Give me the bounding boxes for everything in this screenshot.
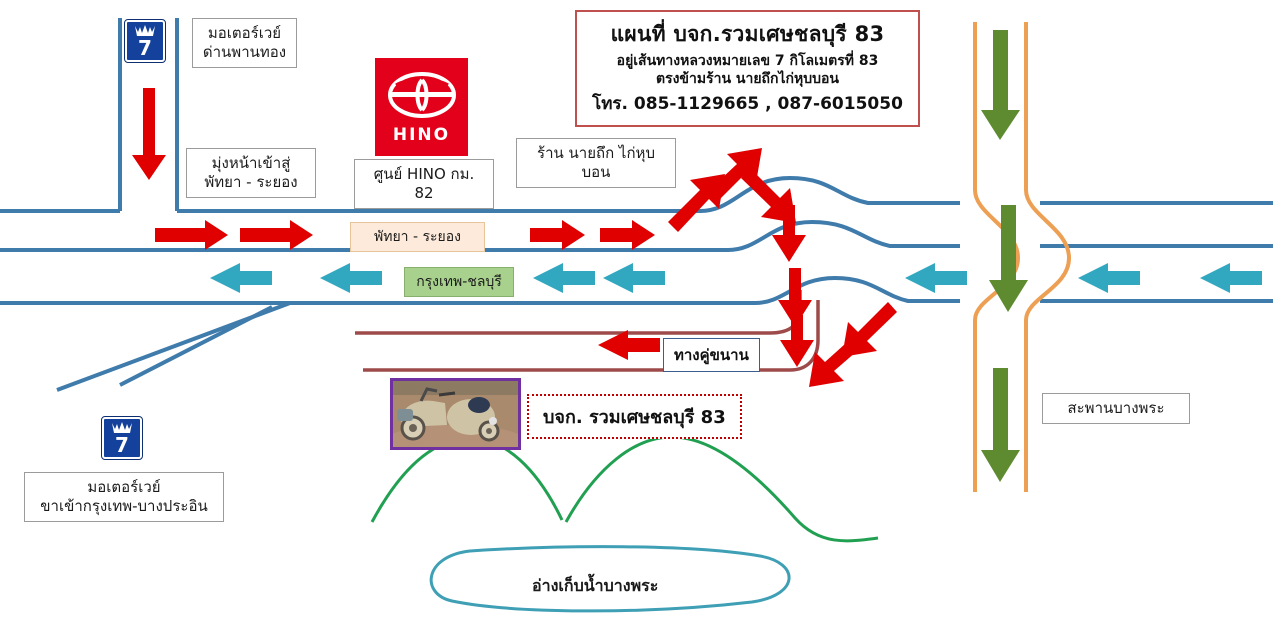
cyan-arrow-left-7 xyxy=(1200,263,1262,293)
red-arrow-right-3 xyxy=(530,220,585,250)
route-chip-pattaya-rayong: พัทยา - ระยอง xyxy=(350,222,485,252)
highway-shield-bottom: 7 xyxy=(102,417,142,459)
ramp-diagonal-lower xyxy=(120,307,272,385)
green-arrow-down-top xyxy=(981,30,1020,140)
title-line-3: ตรงข้ามร้าน นายถึกไก่หุบบอน xyxy=(591,70,904,88)
shield-number: 7 xyxy=(138,38,152,58)
route-chip-bangkok-chonburi: กรุงเทพ-ชลบุรี xyxy=(404,267,514,297)
title-line-2: อยู่เส้นทางหลวงหมายเลข 7 กิโลเมตรที่ 83 xyxy=(591,52,904,70)
map-title-box: แผนที่ บจก.รวมเศษชลบุรี 83 อยู่เส้นทางหล… xyxy=(575,10,920,127)
label-hino-center-km82: ศูนย์ HINO กม. 82 xyxy=(354,159,494,209)
hill-right xyxy=(566,437,878,541)
label-motorway-phan-thong: มอเตอร์เวย์ ด่านพานทอง xyxy=(192,18,297,68)
label-company-name: บจก. รวมเศษชลบุรี 83 xyxy=(527,394,742,439)
label-heading-to-pattaya-rayong: มุ่งหน้าเข้าสู่ พัทยา - ระยอง xyxy=(186,148,316,198)
hino-wordmark: HINO xyxy=(393,125,450,145)
red-arrow-right-1 xyxy=(155,220,228,250)
label-shop-nai-thuk: ร้าน นายถึก ไก่หุบ บอน xyxy=(516,138,676,188)
green-hills xyxy=(372,437,878,541)
cyan-arrow-left-2 xyxy=(320,263,382,293)
cyan-arrow-left-5 xyxy=(905,263,967,293)
red-arrow-up-right-1 xyxy=(668,174,725,232)
cyan-arrow-left-4 xyxy=(603,263,665,293)
scooter-photo xyxy=(390,378,521,450)
hill-left xyxy=(372,438,562,522)
hino-logo: HINO xyxy=(375,58,468,156)
green-direction-arrows xyxy=(981,30,1028,482)
cyan-arrow-left-6 xyxy=(1078,263,1140,293)
title-line-1: แผนที่ บจก.รวมเศษชลบุรี 83 xyxy=(591,18,904,51)
road-north-flyover xyxy=(700,178,960,211)
label-reservoir: อ่างเก็บน้ำบางพระ xyxy=(532,574,658,599)
shield-number: 7 xyxy=(115,435,129,455)
red-arrow-right-2 xyxy=(240,220,313,250)
red-arrow-right-4 xyxy=(600,220,655,250)
label-bang-phra-bridge: สะพานบางพระ xyxy=(1042,393,1190,424)
red-arrow-down-3 xyxy=(780,315,814,367)
road-mid-flyover xyxy=(728,222,960,250)
cyan-arrow-left-3 xyxy=(533,263,595,293)
hino-emblem-icon xyxy=(386,70,458,124)
label-parallel-road: ทางคู่ขนาน xyxy=(663,338,760,372)
cyan-direction-arrows xyxy=(210,263,1262,293)
red-arrow-down-motorway xyxy=(132,88,166,180)
scooter-photo-content xyxy=(393,381,518,447)
title-line-4: โทร. 085-1129665 , 087-6015050 xyxy=(591,90,904,117)
highway-shield-top: 7 xyxy=(125,20,165,62)
map-canvas: 7 7 HINO xyxy=(0,0,1273,627)
green-arrow-down-bottom xyxy=(981,368,1020,482)
cyan-arrow-left-1 xyxy=(210,263,272,293)
label-motorway-to-bangkok: มอเตอร์เวย์ ขาเข้ากรุงเทพ-บางประอิน xyxy=(24,472,224,522)
